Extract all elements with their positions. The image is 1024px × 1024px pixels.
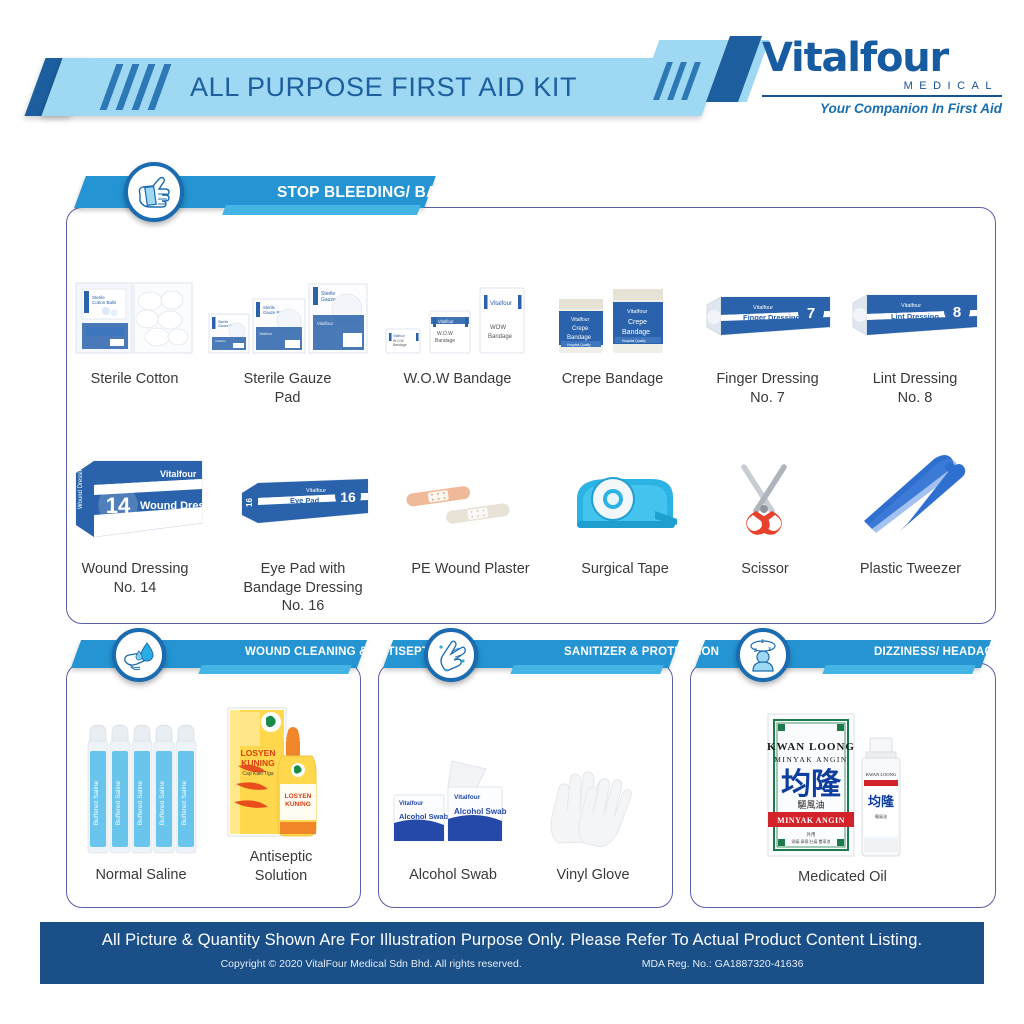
svg-text:KUNING: KUNING <box>285 801 311 808</box>
svg-text:Buffered Saline: Buffered Saline <box>137 780 144 825</box>
antiseptic-brand-line2: KUNING <box>241 758 275 768</box>
svg-text:Vitalfour: Vitalfour <box>393 334 406 338</box>
svg-text:Buffered Saline: Buffered Saline <box>115 780 122 825</box>
product-image-crepe-bandage: Vitalfour Crepe Bandage Hospital Quality… <box>545 262 680 362</box>
product-caption: Vinyl Glove <box>528 866 658 885</box>
product-image-lint-dressing-box: Vitalfour Lint Dressing 8 <box>845 262 985 362</box>
oil-brand-name: KWAN LOONG <box>767 741 855 753</box>
svg-text:Vitalfour: Vitalfour <box>753 305 773 311</box>
product-image-tweezer <box>838 442 983 552</box>
svg-text:Vitalfour: Vitalfour <box>571 317 590 323</box>
svg-text:Vitalfour: Vitalfour <box>454 794 481 801</box>
svg-text:Cotton Balls: Cotton Balls <box>92 300 117 305</box>
section-label-stop-bleeding: STOP BLEEDING/ BANDAGING <box>277 184 512 202</box>
product-image-eye-pad-box: Vitalfour Eye Pad with bandage 16 16 <box>228 442 378 552</box>
product-caption: W.O.W Bandage <box>380 370 535 389</box>
svg-text:Vitalfour: Vitalfour <box>399 801 424 807</box>
product-caption: PE Wound Plaster <box>398 560 543 579</box>
product-caption: Sterile Cotton <box>72 370 197 389</box>
svg-text:Vitalfour: Vitalfour <box>259 332 273 336</box>
section-label-wound-cleaning: WOUND CLEANING & ANTISEPTIC <box>245 646 441 658</box>
antiseptic-brand-line1: LOSYEN <box>241 748 276 758</box>
brand-subtitle: MEDICAL <box>762 80 1002 92</box>
bandaged-hand-icon <box>124 162 184 222</box>
product-sterile-gauze-pad: SterileGauze Pad SterileGauze Pad Steril… <box>205 262 370 407</box>
svg-text:Vitalfour: Vitalfour <box>438 319 454 324</box>
product-vinyl-glove: Vinyl Glove <box>528 740 658 885</box>
product-plastic-tweezer: Plastic Tweezer <box>838 442 983 579</box>
svg-text:Wound Dressing: Wound Dressing <box>78 464 84 508</box>
svg-text:Bandage: Bandage <box>567 335 592 341</box>
product-medicated-oil: KWAN LOONG MINYAK ANGIN 均隆 驅風油 MINYAK AN… <box>730 700 955 887</box>
product-crepe-bandage: Vitalfour Crepe Bandage Hospital Quality… <box>545 262 680 389</box>
svg-text:WOW: WOW <box>490 325 506 331</box>
product-caption: Finger Dressing No. 7 <box>695 370 840 407</box>
svg-text:外用: 外用 <box>807 831 816 838</box>
svg-text:Buffered Saline: Buffered Saline <box>181 780 188 825</box>
product-caption: Medicated Oil <box>730 868 955 887</box>
product-image-cotton-packs: Sterile Cotton Balls <box>72 262 197 362</box>
title-slash-decor-icon <box>108 64 178 110</box>
section-label-sanitizer: SANITIZER & PROTECTION <box>564 646 719 658</box>
product-wound-dressing: Vitalfour 14 Wound Dressing Wound Dressi… <box>60 442 210 597</box>
svg-text:W.O.W: W.O.W <box>437 331 453 337</box>
svg-text:頭痛 鼻塞 肚痛 暈車浪: 頭痛 鼻塞 肚痛 暈車浪 <box>792 838 831 844</box>
svg-text:Crepe: Crepe <box>628 319 647 326</box>
sanitizing-hands-icon <box>424 628 478 682</box>
svg-text:MINYAK ANGIN: MINYAK ANGIN <box>777 816 845 825</box>
product-image-scissor <box>700 442 830 552</box>
product-surgical-tape: Surgical Tape <box>555 442 695 579</box>
svg-text:16: 16 <box>245 497 254 506</box>
svg-text:Hospital Quality: Hospital Quality <box>567 343 591 347</box>
product-caption: Plastic Tweezer <box>838 560 983 579</box>
svg-text:Bandage: Bandage <box>622 329 650 336</box>
page-header: ALL PURPOSE FIRST AID KIT Vitalfour MEDI… <box>0 0 1024 150</box>
box-number-badge: 14 <box>106 493 131 518</box>
product-caption: Surgical Tape <box>555 560 695 579</box>
svg-text:Buffered Saline: Buffered Saline <box>159 780 166 825</box>
svg-text:Bandage: Bandage <box>435 338 455 344</box>
product-image-alcohol-swab: Vitalfour Alcohol Swab Vitalfour Alcohol… <box>388 740 518 858</box>
section-header-dizziness: zzz DIZZINESS/ HEADACHES <box>694 640 994 678</box>
product-antiseptic-solution: LOSYEN KUNING Cap Kaki Tiga LOSYEN KUNIN… <box>216 700 346 885</box>
logo-slash-decor-icon <box>660 62 718 100</box>
product-caption: Normal Saline <box>76 866 206 885</box>
box-label-text: Eye Pad <box>290 496 320 505</box>
product-image-antiseptic: LOSYEN KUNING Cap Kaki Tiga LOSYEN KUNIN… <box>216 700 346 840</box>
page-title: ALL PURPOSE FIRST AID KIT <box>190 72 577 103</box>
svg-text:z: z <box>761 639 764 645</box>
section-header-wound-cleaning: WOUND CLEANING & ANTISEPTIC <box>70 640 370 678</box>
dizzy-head-icon: zzz <box>736 628 790 682</box>
section-header-sanitizer: SANITIZER & PROTECTION <box>382 640 682 678</box>
product-image-wound-dressing-box: Vitalfour 14 Wound Dressing Wound Dressi… <box>60 442 210 552</box>
product-image-gauze-packs: SterileGauze Pad SterileGauze Pad Steril… <box>205 262 370 362</box>
product-image-wow-bandage: Vitalfour W.O.WBandage Vitalfour W.O.WBa… <box>380 262 535 362</box>
brand-logo: Vitalfour MEDICAL Your Companion In Firs… <box>762 38 1002 116</box>
svg-text:z: z <box>768 647 771 653</box>
box-number-badge: 8 <box>953 304 961 321</box>
product-normal-saline: Buffered Saline Buffered Saline Buffered… <box>76 700 206 885</box>
svg-text:Alcohol Swab: Alcohol Swab <box>454 807 507 816</box>
svg-text:z: z <box>754 648 757 654</box>
svg-text:Vitalfour: Vitalfour <box>490 301 512 307</box>
product-caption: Antiseptic Solution <box>216 848 346 885</box>
product-lint-dressing: Vitalfour Lint Dressing 8 Lint Dressing … <box>845 262 985 407</box>
product-caption: Alcohol Swab <box>388 866 518 885</box>
product-caption: Wound Dressing No. 14 <box>60 560 210 597</box>
ampoule-label: Buffered Saline <box>93 780 100 825</box>
brand-divider <box>762 95 1002 97</box>
product-alcohol-swab: Vitalfour Alcohol Swab Vitalfour Alcohol… <box>388 740 518 885</box>
svg-text:Vitalfour: Vitalfour <box>627 309 648 315</box>
box-label-text: Lint Dressing <box>891 312 939 321</box>
product-scissor: Scissor <box>700 442 830 579</box>
svg-text:KWAN LOONG: KWAN LOONG <box>866 772 897 777</box>
brand-tagline: Your Companion In First Aid <box>762 101 1002 116</box>
product-sterile-cotton: Sterile Cotton Balls Sterile Cotton <box>72 262 197 389</box>
svg-text:驅風油: 驅風油 <box>797 799 824 810</box>
svg-text:Bandage: Bandage <box>488 334 513 340</box>
section-label-dizziness: DIZZINESS/ HEADACHES <box>874 646 1017 658</box>
product-image-plasters <box>398 442 543 552</box>
svg-text:LOSYEN: LOSYEN <box>285 793 312 800</box>
box-number-badge: 16 <box>340 489 356 505</box>
page-footer: All Picture & Quantity Shown Are For Ill… <box>40 922 984 984</box>
footer-disclaimer: All Picture & Quantity Shown Are For Ill… <box>40 922 984 950</box>
product-image-finger-dressing-box: Vitalfour Finger Dressing 7 <box>695 262 840 362</box>
box-number-badge: 7 <box>807 305 815 322</box>
svg-text:驅風油: 驅風油 <box>875 813 887 819</box>
product-eye-pad: Vitalfour Eye Pad with bandage 16 16 Eye… <box>228 442 378 616</box>
oil-brand-sub: MINYAK ANGIN <box>774 755 848 764</box>
product-caption: Crepe Bandage <box>545 370 680 389</box>
box-label-text: Wound Dressing <box>140 500 227 512</box>
product-caption: Scissor <box>700 560 830 579</box>
product-image-tape-dispenser <box>555 442 695 552</box>
product-caption: Lint Dressing No. 8 <box>845 370 985 407</box>
svg-text:Crepe: Crepe <box>572 326 589 332</box>
product-pe-wound-plaster: PE Wound Plaster <box>398 442 543 579</box>
svg-text:Cap Kaki Tiga: Cap Kaki Tiga <box>242 771 273 777</box>
box-label-text: Finger Dressing <box>743 313 801 322</box>
brand-name: Vitalfour <box>762 38 1002 78</box>
svg-text:Vitalfour: Vitalfour <box>901 303 921 309</box>
svg-text:Vitalfour: Vitalfour <box>306 488 326 494</box>
product-caption: Eye Pad with Bandage Dressing No. 16 <box>228 560 378 616</box>
svg-text:with bandage: with bandage <box>290 506 320 512</box>
svg-text:Vitalfour: Vitalfour <box>160 469 197 479</box>
product-finger-dressing: Vitalfour Finger Dressing 7 Finger Dress… <box>695 262 840 407</box>
product-image-saline-ampoules: Buffered Saline Buffered Saline Buffered… <box>76 700 206 858</box>
product-wow-bandage: Vitalfour W.O.WBandage Vitalfour W.O.WBa… <box>380 262 535 389</box>
svg-text:Bandage: Bandage <box>393 343 407 347</box>
hand-wash-drop-icon <box>112 628 166 682</box>
svg-text:均隆: 均隆 <box>781 768 842 801</box>
svg-text:Vitalfour: Vitalfour <box>215 339 226 343</box>
svg-text:Hospital Quality: Hospital Quality <box>622 339 646 343</box>
svg-text:均隆: 均隆 <box>868 794 895 809</box>
footer-copyright: Copyright © 2020 VitalFour Medical Sdn B… <box>221 958 522 970</box>
section-header-stop-bleeding: STOP BLEEDING/ BANDAGING <box>72 176 442 214</box>
swab-label: Alcohol Swab <box>399 812 449 821</box>
product-image-vinyl-glove <box>528 740 658 858</box>
product-image-medicated-oil: KWAN LOONG MINYAK ANGIN 均隆 驅風油 MINYAK AN… <box>730 700 955 860</box>
footer-mda-reg: MDA Reg. No.: GA1887320-41636 <box>642 958 804 970</box>
svg-text:Vitalfour: Vitalfour <box>317 321 334 326</box>
product-caption: Sterile Gauze Pad <box>205 370 370 407</box>
